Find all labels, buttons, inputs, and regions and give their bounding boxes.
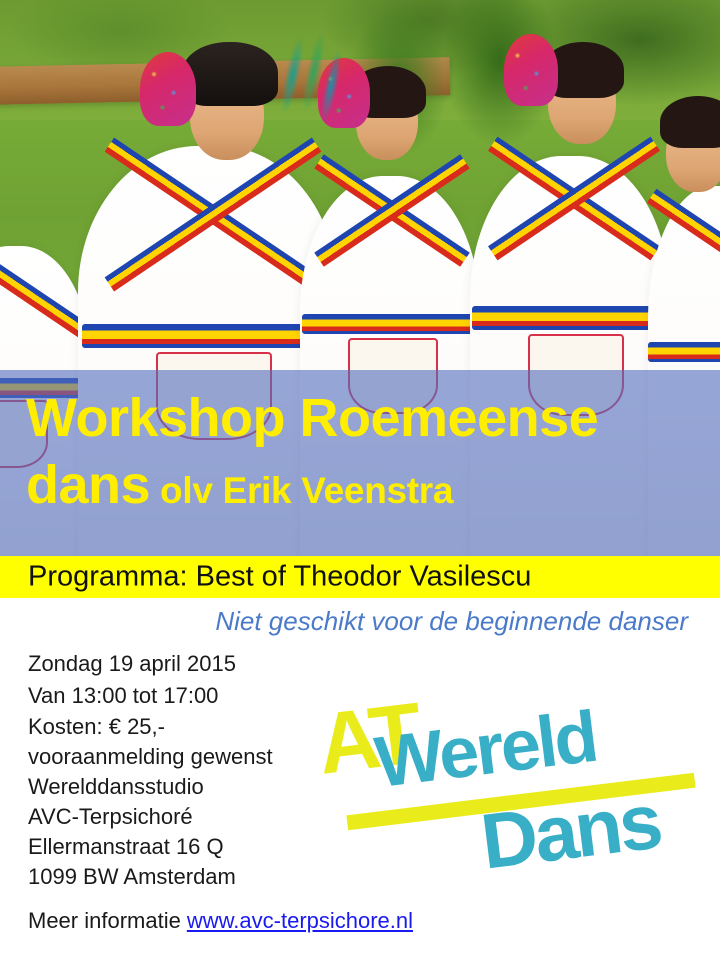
poster-title: Workshop Roemeense dansolv Erik Veenstra <box>0 370 720 556</box>
detail-time: Van 13:00 tot 17:00 <box>28 680 358 712</box>
title-line-1: Workshop Roemeense <box>26 384 720 452</box>
at-werelddans-logo: AT Wereld Dans <box>318 688 710 888</box>
detail-city: 1099 BW Amsterdam <box>28 862 358 892</box>
detail-price: Kosten: € 25,- <box>28 712 358 742</box>
beaded-headdress <box>504 34 558 106</box>
detail-venue: Werelddansstudio <box>28 772 358 802</box>
black-fur-hat <box>182 42 278 106</box>
dancer-hair <box>660 96 720 148</box>
title-instructor: olv Erik Veenstra <box>160 470 453 511</box>
detail-organisation: AVC-Terpsichoré <box>28 802 358 832</box>
poster: Workshop Roemeense dansolv Erik Veenstra… <box>0 0 720 960</box>
programme-text: Programma: Best of Theodor Vasilescu <box>28 561 531 594</box>
website-link[interactable]: www.avc-terpsichore.nl <box>187 908 413 933</box>
tricolour-belt <box>302 314 478 334</box>
more-information: Meer informatiewww.avc-terpsichore.nl <box>28 908 413 934</box>
beaded-headdress <box>140 52 196 126</box>
more-information-label: Meer informatie <box>28 908 181 933</box>
tricolour-belt <box>82 324 334 348</box>
detail-date: Zondag 19 april 2015 <box>28 648 358 680</box>
tricolour-belt <box>648 342 720 362</box>
event-details: Zondag 19 april 2015 Van 13:00 tot 17:00… <box>28 648 358 892</box>
programme-bar: Programma: Best of Theodor Vasilescu <box>0 556 720 598</box>
logo-dans-text: Dans <box>477 781 664 880</box>
detail-street: Ellermanstraat 16 Q <box>28 832 358 862</box>
detail-registration: vooraanmelding gewenst <box>28 742 358 772</box>
skill-level-note: Niet geschikt voor de beginnende danser <box>215 606 688 637</box>
title-line-2: dansolv Erik Veenstra <box>26 452 720 532</box>
title-dans: dans <box>26 455 150 515</box>
tricolour-belt <box>472 306 668 330</box>
